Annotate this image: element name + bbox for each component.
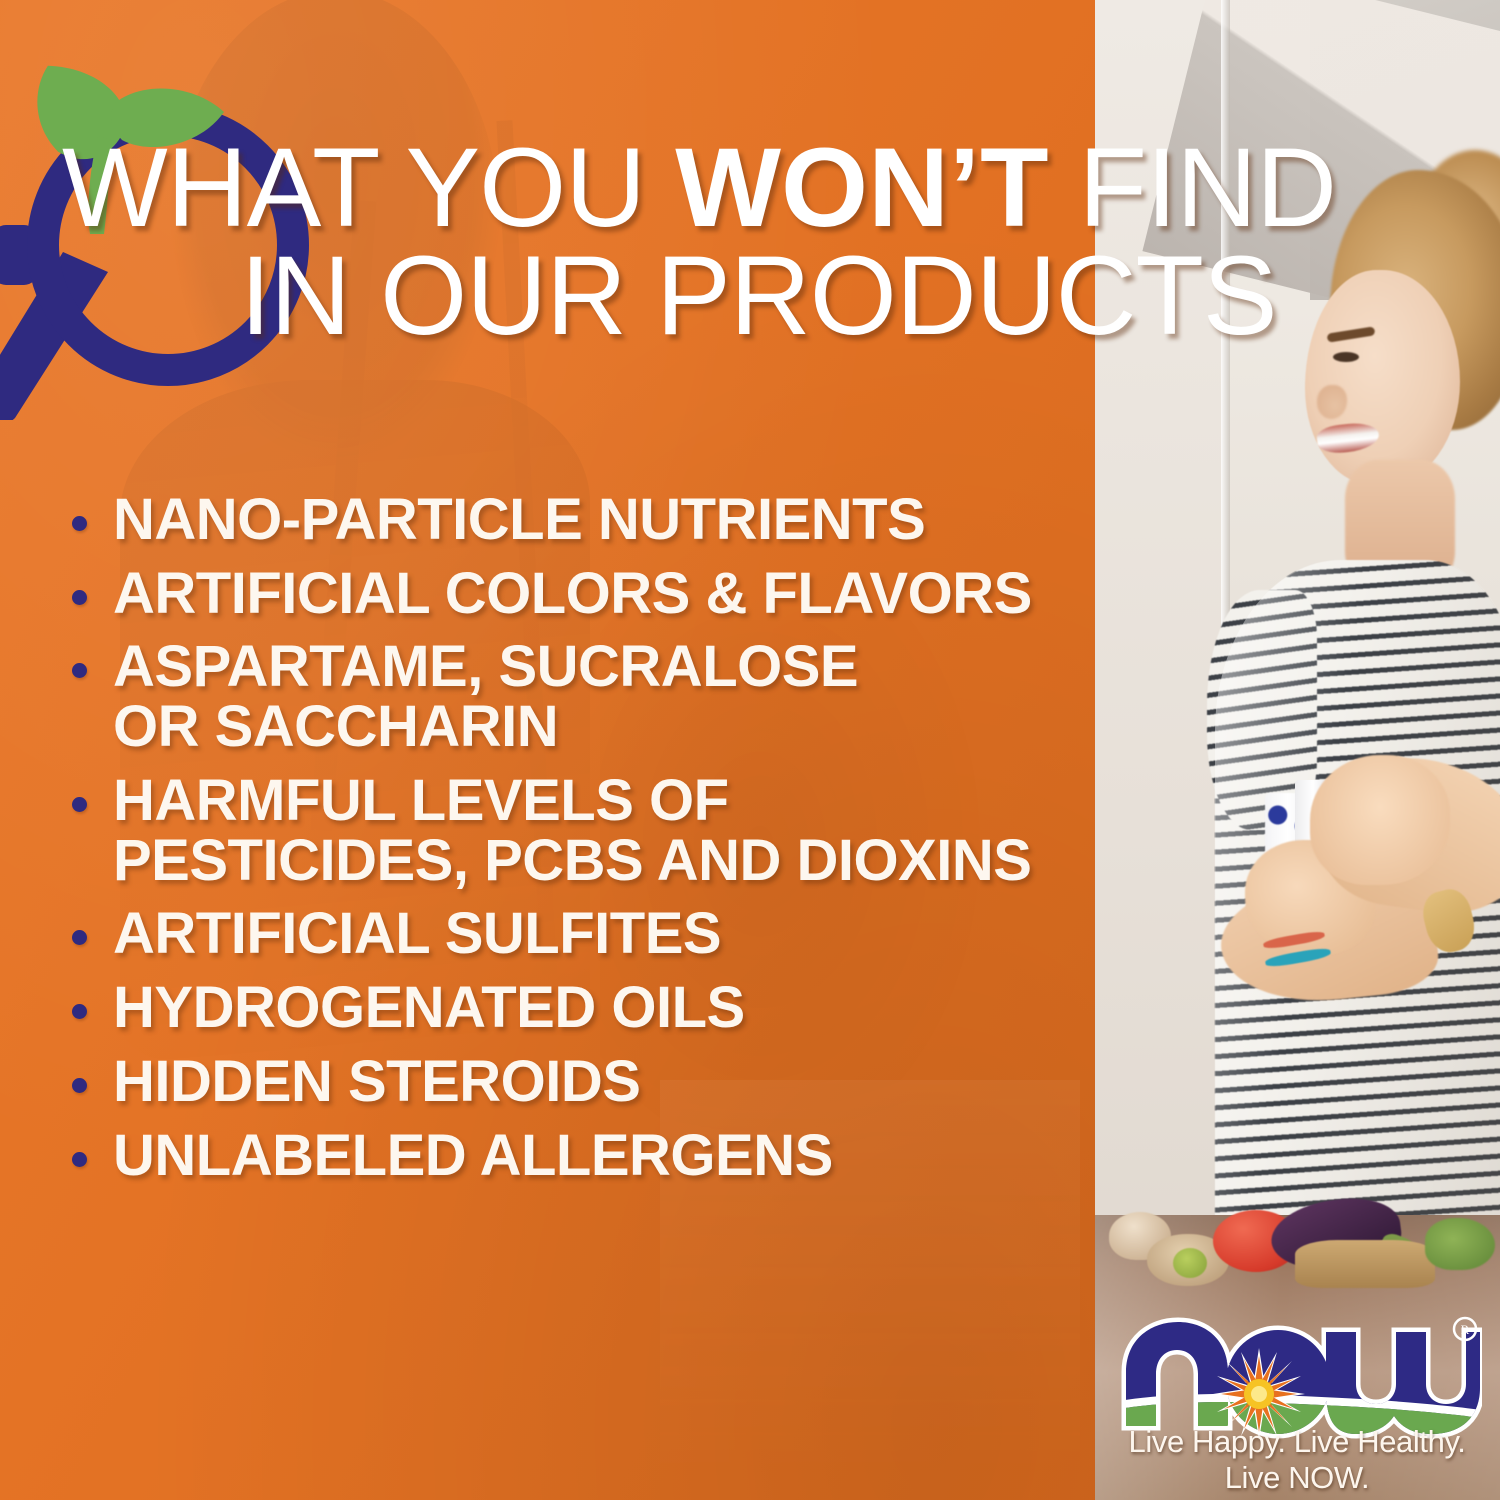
photo-right-hand	[1310, 755, 1450, 885]
list-item-label: HARMFUL LEVELS OF PESTICIDES, PCBS AND D…	[113, 771, 1031, 890]
bullet-dot-icon	[72, 797, 87, 812]
bullet-dot-icon	[72, 1152, 87, 1167]
list-item: UNLABELED ALLERGENS	[72, 1126, 1072, 1186]
list-item: HYDROGENATED OILS	[72, 978, 1072, 1038]
list-item-label: UNLABELED ALLERGENS	[113, 1126, 833, 1186]
headline-line1-post: FIND	[1049, 125, 1336, 250]
photo-greens	[1425, 1218, 1495, 1270]
page-title: WHAT YOU WON’T FIND IN OUR PRODUCTS	[62, 134, 1462, 349]
bullet-dot-icon	[72, 516, 87, 531]
bullet-dot-icon	[72, 930, 87, 945]
photo-bread	[1295, 1240, 1435, 1288]
exclusion-list: NANO-PARTICLE NUTRIENTS ARTIFICIAL COLOR…	[72, 490, 1072, 1199]
headline-line1-pre: WHAT YOU	[62, 125, 675, 250]
photo-eye	[1333, 352, 1359, 362]
list-item-label: ARTIFICIAL COLORS & FLAVORS	[113, 564, 1032, 624]
photo-lime	[1173, 1248, 1207, 1278]
list-item: HARMFUL LEVELS OF PESTICIDES, PCBS AND D…	[72, 771, 1072, 890]
headline-line1-strong: WON’T	[675, 125, 1048, 250]
list-item: HIDDEN STEROIDS	[72, 1052, 1072, 1112]
bullet-dot-icon	[72, 1004, 87, 1019]
list-item-label: HYDROGENATED OILS	[113, 978, 745, 1038]
bullet-dot-icon	[72, 663, 87, 678]
list-item-label: ARTIFICIAL SULFITES	[113, 904, 721, 964]
list-item-label: ASPARTAME, SUCRALOSE OR SACCHARIN	[113, 637, 858, 756]
list-item-label: NANO-PARTICLE NUTRIENTS	[113, 490, 925, 550]
list-item: ARTIFICIAL COLORS & FLAVORS	[72, 564, 1072, 624]
bullet-dot-icon	[72, 1078, 87, 1093]
headline-line2: IN OUR PRODUCTS	[240, 242, 1462, 350]
list-item: NANO-PARTICLE NUTRIENTS	[72, 490, 1072, 550]
list-item-label: HIDDEN STEROIDS	[113, 1052, 640, 1112]
list-item: ASPARTAME, SUCRALOSE OR SACCHARIN	[72, 637, 1072, 756]
brand-tagline: Live Happy. Live Healthy. Live NOW.	[1112, 1424, 1482, 1496]
photo-vegetables	[1095, 1190, 1500, 1300]
svg-text:R: R	[1461, 1322, 1470, 1337]
promo-graphic: WHAT YOU WON’T FIND IN OUR PRODUCTS NANO…	[0, 0, 1500, 1500]
bullet-dot-icon	[72, 590, 87, 605]
list-item: ARTIFICIAL SULFITES	[72, 904, 1072, 964]
